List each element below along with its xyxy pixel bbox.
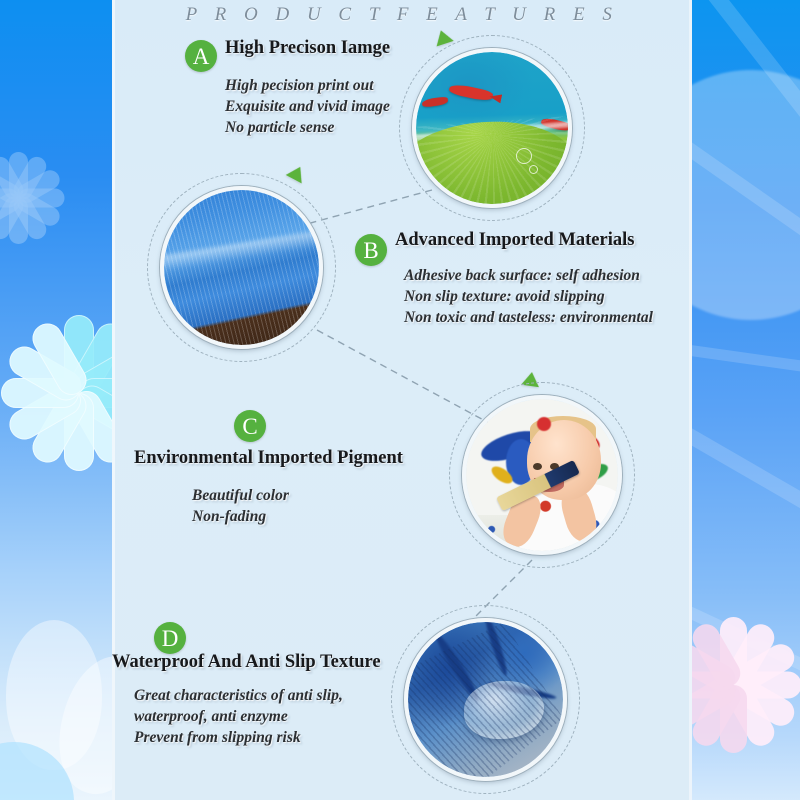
body-d: Great characteristics of anti slip, wate… <box>134 686 343 749</box>
badge-b: B <box>355 234 387 266</box>
baby-eye-left <box>533 463 542 470</box>
texture-vein-1 <box>432 631 483 704</box>
body-c-line-1: Beautiful color <box>192 486 289 507</box>
body-d-line-3: Prevent from slipping risk <box>134 728 343 749</box>
photo-circle-a <box>412 48 572 208</box>
body-b-line-3: Non toxic and tasteless: environmental <box>404 308 653 329</box>
photo-frame-d <box>404 618 567 781</box>
photo-image-b <box>164 190 319 345</box>
badge-d: D <box>154 622 186 654</box>
photo-image-a <box>416 52 568 204</box>
photo-circle-c <box>462 395 622 555</box>
body-a-line-2: Exquisite and vivid image <box>225 97 390 118</box>
body-b-line-1: Adhesive back surface: self adhesion <box>404 266 653 287</box>
right-decorative-band <box>692 0 800 800</box>
body-d-line-2: waterproof, anti enzyme <box>134 707 343 728</box>
body-a-line-1: High pecision print out <box>225 76 390 97</box>
koi-fish-small <box>422 96 449 108</box>
heading-d: Waterproof And Anti Slip Texture <box>112 652 381 673</box>
body-c-line-2: Non-fading <box>192 507 289 528</box>
badge-a: A <box>185 40 217 72</box>
page-title: P R O D U C T F E A T U R E S <box>112 4 692 26</box>
texture-vein-3 <box>487 680 557 701</box>
photo-circle-b <box>160 186 323 349</box>
small-flower-rosette-left <box>0 150 66 246</box>
photo-frame-b <box>160 186 323 349</box>
photo-frame-a <box>412 48 572 208</box>
bubble-1 <box>516 148 532 164</box>
bubble-2 <box>529 165 538 174</box>
water-droplet <box>464 681 544 739</box>
body-c: Beautiful color Non-fading <box>192 486 289 528</box>
photo-image-c <box>466 399 618 551</box>
product-features-poster: P R O D U C T F E A T U R E S A High Pre… <box>0 0 800 800</box>
flower-rosette-right <box>692 610 800 760</box>
panel-edge-right <box>689 0 692 800</box>
large-petal-shape-right <box>692 37 800 352</box>
heading-b: Advanced Imported Materials <box>395 230 634 251</box>
photo-image-d <box>408 622 563 777</box>
left-decorative-band <box>0 0 118 800</box>
photo-circle-d <box>404 618 567 781</box>
body-d-line-1: Great characteristics of anti slip, <box>134 686 343 707</box>
heading-a: High Precison Iamge <box>225 38 390 59</box>
heading-c: Environmental Imported Pigment <box>134 448 403 469</box>
koi-fish-large <box>449 82 494 102</box>
body-a-line-3: No particle sense <box>225 118 390 139</box>
fabric-fold <box>164 228 319 273</box>
body-b-line-2: Non slip texture: avoid slipping <box>404 287 653 308</box>
content-panel: P R O D U C T F E A T U R E S A High Pre… <box>112 0 692 800</box>
body-a: High pecision print out Exquisite and vi… <box>225 76 390 139</box>
body-b: Adhesive back surface: self adhesion Non… <box>404 266 653 329</box>
texture-vein-2 <box>482 622 509 676</box>
photo-frame-c <box>462 395 622 555</box>
flower-rosette-left <box>0 308 118 478</box>
arrow-triangle-b <box>286 163 308 184</box>
badge-c: C <box>234 410 266 442</box>
lily-pad <box>416 116 568 204</box>
panel-edge-left <box>112 0 115 800</box>
